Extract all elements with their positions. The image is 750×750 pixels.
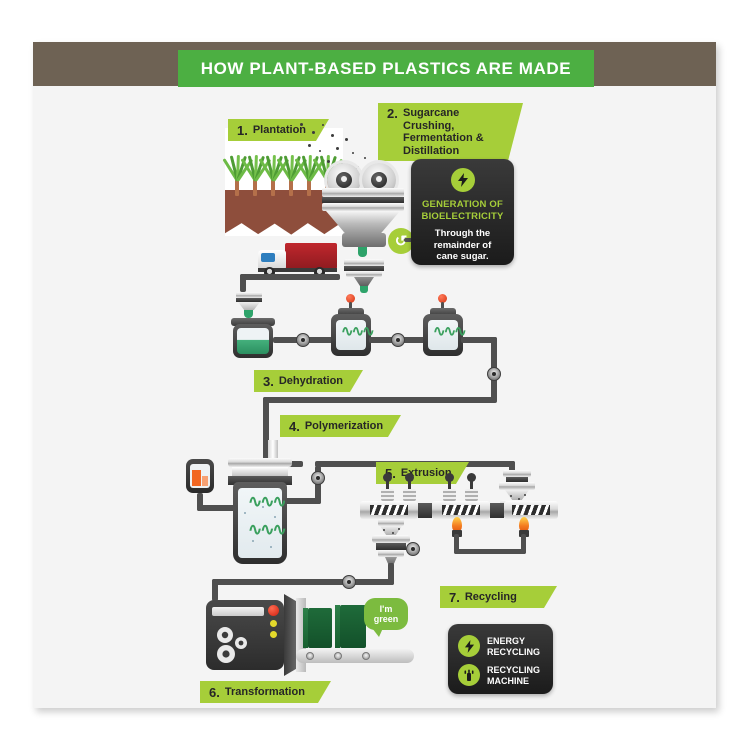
- pelletizer-plate: [378, 550, 404, 557]
- liquid-stream: [244, 310, 253, 318]
- extruder-rod: [386, 481, 389, 489]
- step-1-label: Plantation: [253, 124, 306, 136]
- cane-chip: [319, 150, 321, 152]
- pelletizer-plate: [378, 519, 404, 526]
- lightning-bolt-icon: [458, 635, 480, 657]
- cane-chip: [331, 134, 334, 137]
- extruder-rod: [470, 481, 473, 489]
- cane-chip: [336, 147, 339, 150]
- pellet: [398, 528, 400, 530]
- cane-chip: [308, 144, 311, 147]
- recycling-item-2-line1: RECYCLING: [487, 665, 540, 676]
- plantation-scene: [225, 128, 343, 236]
- granule: [252, 540, 254, 542]
- recycling-panel: ENERGY RECYCLING RECYCLING MACHINE: [448, 624, 553, 694]
- step-4-banner: 4. Polymerization: [280, 415, 401, 437]
- juice-stream: [360, 286, 368, 293]
- extruder-coupler: [418, 503, 432, 518]
- pelletizer-plate: [372, 535, 410, 543]
- step-1-number: 1.: [237, 123, 248, 138]
- bubble-line1: I'm: [380, 604, 393, 614]
- vat-window: [237, 328, 269, 354]
- bioelectricity-body-line2: remainder of: [434, 240, 492, 252]
- pellet: [392, 532, 394, 534]
- step-2-label-line3: Distillation: [403, 145, 499, 158]
- extruder-rod: [408, 481, 411, 489]
- extruder-screw: [442, 505, 480, 515]
- recycling-item-2-line2: MACHINE: [487, 676, 540, 687]
- heat-wave-icon: ∿∿∿: [248, 492, 285, 512]
- conveyor-roller: [362, 652, 370, 660]
- step-2-banner: 2. Sugarcane Crushing, Fermentation & Di…: [378, 103, 523, 161]
- lightning-bolt-icon: [451, 168, 475, 192]
- reactor-flange: [232, 467, 288, 476]
- step-7-banner: 7. Recycling: [440, 586, 557, 608]
- crusher-outlet: [342, 233, 386, 247]
- hopper-plate: [499, 482, 535, 490]
- pipe-spacer: [150, 545, 410, 551]
- pipe-valve-joint[interactable]: [311, 471, 325, 485]
- bubble-line2: green: [374, 614, 399, 624]
- feeder-band: [236, 298, 262, 302]
- machine-status-light: [270, 620, 277, 627]
- plastic-product: [308, 608, 332, 648]
- pellet: [510, 495, 512, 497]
- extruder-spring: [381, 489, 394, 501]
- speech-bubble: I'm green: [364, 598, 408, 630]
- bioelectricity-body-line1: Through the: [434, 228, 492, 240]
- machine-display: [212, 607, 264, 616]
- truck-windshield: [261, 253, 275, 262]
- hopper-plate: [503, 470, 531, 477]
- cane-chip: [364, 157, 366, 159]
- granule: [244, 512, 246, 514]
- cane-chip: [352, 152, 354, 154]
- heat-wave-icon: ∿∿∿: [248, 520, 285, 540]
- extruder-screw: [512, 505, 550, 515]
- step-4-label: Polymerization: [305, 420, 383, 432]
- pipe-segment: [212, 579, 394, 585]
- machine-status-light: [270, 631, 277, 638]
- recycling-item-1-line1: ENERGY: [487, 636, 540, 647]
- step-7-label: Recycling: [465, 591, 517, 603]
- pipe-segment: [263, 397, 497, 403]
- pipe-valve-joint[interactable]: [487, 367, 501, 381]
- plastic-product: [340, 605, 366, 648]
- pipe-valve-joint[interactable]: [391, 333, 405, 347]
- title-plate: HOW PLANT-BASED PLASTICS ARE MADE: [178, 50, 594, 87]
- step-3-banner: 3. Dehydration: [254, 370, 363, 392]
- recycling-machine-icon: [458, 664, 480, 686]
- pellet: [524, 494, 526, 496]
- recycling-item-1-line2: RECYCLING: [487, 647, 540, 658]
- cane-chip: [300, 123, 303, 126]
- cane-chip: [322, 124, 324, 126]
- step-6-number: 6.: [209, 685, 220, 700]
- conveyor-roller: [334, 652, 342, 660]
- gears-icon: [212, 624, 258, 666]
- step-4-number: 4.: [289, 419, 300, 434]
- page-title: HOW PLANT-BASED PLASTICS ARE MADE: [201, 59, 572, 79]
- extruder-screw: [370, 505, 408, 515]
- pipe-segment: [197, 505, 237, 511]
- pipe-valve-joint[interactable]: [342, 575, 356, 589]
- extruder-spring: [443, 489, 456, 501]
- distiller-plate: [346, 271, 382, 277]
- step-2-label-line2: Fermentation &: [403, 132, 499, 145]
- truck-cargo-box: [285, 243, 337, 269]
- cane-chip: [327, 160, 330, 163]
- conveyor-roller: [306, 652, 314, 660]
- granule: [262, 506, 264, 508]
- extruder-rod: [448, 481, 451, 489]
- machine-power-light[interactable]: [268, 605, 279, 616]
- extruder-coupler: [490, 503, 504, 518]
- pipe-segment: [240, 274, 246, 292]
- bioelectricity-title-line2: BIOELECTRICITY: [422, 211, 504, 223]
- pipe-valve-joint[interactable]: [296, 333, 310, 347]
- juice-stream: [358, 247, 367, 257]
- crusher-plate: [322, 203, 404, 211]
- distiller-plate: [344, 259, 384, 266]
- cane-chip: [312, 131, 315, 134]
- step-2-label-line1: Sugarcane Crushing,: [403, 107, 499, 132]
- reactor-flange: [228, 458, 292, 467]
- heat-wave-icon: ∿∿∿: [341, 322, 373, 340]
- step-3-label: Dehydration: [279, 375, 343, 387]
- step-2-number: 2.: [387, 108, 398, 121]
- step-6-banner: 6. Transformation: [200, 681, 331, 703]
- pipe-segment: [212, 579, 218, 601]
- pipe-segment: [240, 274, 340, 280]
- granule: [274, 516, 276, 518]
- gauge-bar: [202, 476, 208, 486]
- gauge-bar: [192, 470, 201, 486]
- extruder-spring: [465, 489, 478, 501]
- bioelectricity-panel: GENERATION OF BIOELECTRICITY Through the…: [411, 159, 514, 265]
- pellet: [383, 529, 385, 531]
- step-7-number: 7.: [449, 590, 460, 605]
- bioelectricity-body-line3: cane sugar.: [434, 251, 492, 263]
- step-3-number: 3.: [263, 374, 274, 389]
- heat-wave-icon: ∿∿∿: [433, 322, 465, 340]
- step-6-label: Transformation: [225, 686, 305, 698]
- infographic-canvas: HOW PLANT-BASED PLASTICS ARE MADE 1. Pla…: [0, 0, 750, 750]
- step-1-banner: 1. Plantation: [228, 119, 329, 141]
- gas-line: [454, 549, 526, 554]
- extruder-spring: [403, 489, 416, 501]
- crusher-plate: [322, 188, 404, 197]
- bioelectricity-title-line1: GENERATION OF: [422, 199, 504, 211]
- cane-chip: [345, 138, 348, 141]
